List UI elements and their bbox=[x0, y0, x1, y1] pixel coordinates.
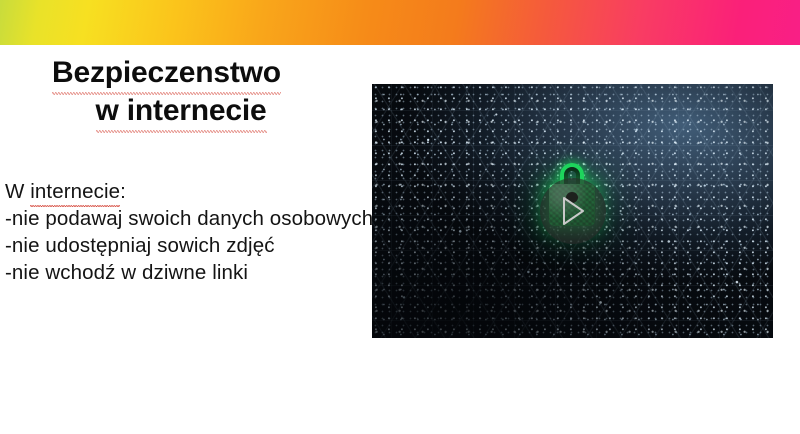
page-title-line-2: w internecie bbox=[52, 92, 352, 130]
body-line-intro: W internecie: bbox=[5, 178, 405, 205]
misspelled-word-internecie: internecie bbox=[30, 178, 120, 205]
body-line-item-3: -nie wchodź w dziwne linki bbox=[5, 259, 405, 286]
body-text-block: W internecie: -nie podawaj swoich danych… bbox=[5, 178, 405, 286]
page-title: Bezpieczenstwo w internecie bbox=[52, 54, 352, 130]
video-thumbnail[interactable] bbox=[372, 84, 773, 338]
misspelled-word-w-internecie: w internecie bbox=[96, 92, 267, 130]
misspelled-word-bezpieczenstwo: Bezpieczenstwo bbox=[52, 54, 281, 92]
play-button[interactable] bbox=[540, 178, 606, 244]
page-title-line-1: Bezpieczenstwo bbox=[52, 54, 352, 92]
decorative-gradient-banner bbox=[0, 0, 800, 45]
body-line-item-2: -nie udostępniaj sowich zdjęć bbox=[5, 232, 405, 259]
body-line-item-1: -nie podawaj swoich danych osobowych bbox=[5, 205, 405, 232]
play-icon bbox=[558, 195, 588, 227]
